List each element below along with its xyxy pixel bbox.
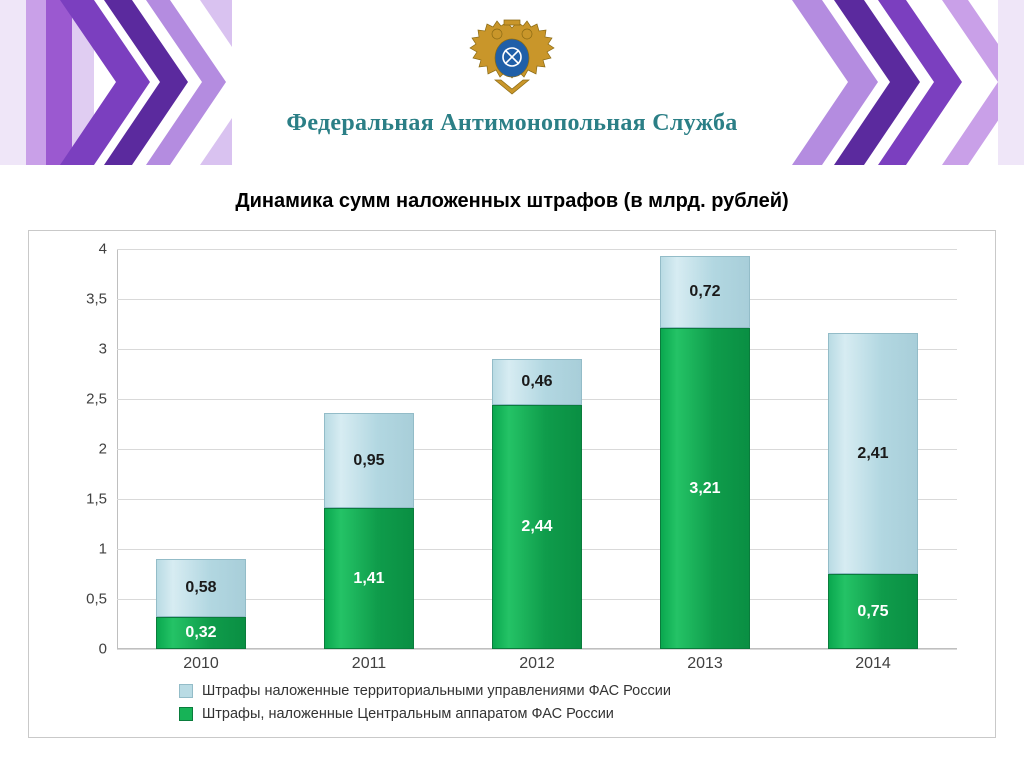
chevron-cluster-left <box>0 0 232 165</box>
bar-value-label: 0,46 <box>521 373 552 391</box>
double-headed-eagle-crest-icon <box>457 18 567 98</box>
decorative-header-band: Федеральная Антимонопольная Служба <box>0 0 1024 165</box>
x-axis-tick-label: 2013 <box>660 655 750 673</box>
bar-segment-central-apparatus: 1,41 <box>324 508 414 649</box>
legend-swatch <box>179 684 193 698</box>
bar-segment-central-apparatus: 0,32 <box>156 617 246 649</box>
legend-label: Штрафы наложенные территориальными управ… <box>202 683 671 699</box>
chart-container: 00,511,522,533,540,320,581,410,952,440,4… <box>28 230 996 738</box>
header-right-chevrons <box>792 0 1024 165</box>
legend-swatch <box>179 707 193 721</box>
bar-value-label: 0,75 <box>857 603 888 621</box>
bar-value-label: 0,32 <box>185 624 216 642</box>
bar-value-label: 0,58 <box>185 579 216 597</box>
grid-line <box>117 249 957 250</box>
y-axis-tick-label: 1 <box>99 541 107 558</box>
bar-segment-territorial: 0,58 <box>156 559 246 617</box>
footer-strip <box>0 745 1024 767</box>
y-axis-tick-label: 0 <box>99 641 107 658</box>
y-axis-tick-label: 4 <box>99 241 107 258</box>
x-axis-tick-label: 2010 <box>156 655 246 673</box>
x-axis-tick-label: 2014 <box>828 655 918 673</box>
grid-line <box>117 649 957 650</box>
y-axis-tick-label: 3,5 <box>86 291 107 308</box>
page-title: Динамика сумм наложенных штрафов (в млрд… <box>0 190 1024 213</box>
bar-value-label: 3,21 <box>689 480 720 498</box>
chevron-cluster-right <box>792 0 1024 165</box>
bar-value-label: 1,41 <box>353 570 384 588</box>
y-axis-tick-label: 2,5 <box>86 391 107 408</box>
bar-segment-central-apparatus: 2,44 <box>492 405 582 649</box>
bar-value-label: 0,72 <box>689 283 720 301</box>
chart-legend: Штрафы наложенные территориальными управ… <box>179 683 671 729</box>
bar-value-label: 2,41 <box>857 445 888 463</box>
bar-segment-territorial: 0,46 <box>492 359 582 405</box>
fas-logo-box: Федеральная Антимонопольная Служба <box>232 0 792 165</box>
bar-segment-central-apparatus: 0,75 <box>828 574 918 649</box>
organization-name: Федеральная Антимонопольная Служба <box>232 110 792 137</box>
x-axis-tick-label: 2012 <box>492 655 582 673</box>
y-axis-tick-label: 1,5 <box>86 491 107 508</box>
bar-segment-central-apparatus: 3,21 <box>660 328 750 649</box>
x-axis-tick-label: 2011 <box>324 655 414 673</box>
y-axis-tick-label: 2 <box>99 441 107 458</box>
header-left-chevrons <box>0 0 232 165</box>
legend-item[interactable]: Штрафы, наложенные Центральным аппаратом… <box>179 706 671 722</box>
x-axis-labels: 20102011201220132014 <box>117 655 957 681</box>
bar-segment-territorial: 0,95 <box>324 413 414 508</box>
grid-line <box>117 299 957 300</box>
legend-item[interactable]: Штрафы наложенные территориальными управ… <box>179 683 671 699</box>
bar-segment-territorial: 2,41 <box>828 333 918 574</box>
y-axis-tick-label: 0,5 <box>86 591 107 608</box>
y-axis-tick-label: 3 <box>99 341 107 358</box>
bar-value-label: 2,44 <box>521 518 552 536</box>
bar-segment-territorial: 0,72 <box>660 256 750 328</box>
bar-value-label: 0,95 <box>353 452 384 470</box>
plot-area: 00,511,522,533,540,320,581,410,952,440,4… <box>117 249 957 649</box>
legend-label: Штрафы, наложенные Центральным аппаратом… <box>202 706 614 722</box>
